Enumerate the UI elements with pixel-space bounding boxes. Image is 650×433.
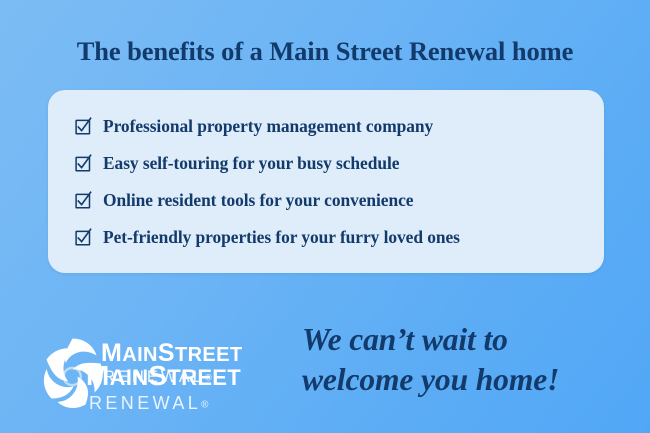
list-item-label: Easy self-touring for your busy schedule <box>103 153 399 174</box>
logo-wordmark: MAINSTREET RENEWAL® <box>86 362 241 412</box>
logo-wordmark-sub: RENEWAL® <box>89 394 241 412</box>
list-item: Pet-friendly properties for your furry l… <box>75 225 460 249</box>
logo-wordmark-main: MAINSTREET <box>86 360 241 391</box>
checkbox-checked-icon <box>75 154 92 172</box>
list-item: Professional property management company <box>75 114 433 138</box>
tagline-line-1: We can’t wait to <box>302 320 632 360</box>
benefits-card: Professional property management company… <box>48 90 604 273</box>
list-item: Online resident tools for your convenien… <box>75 188 413 212</box>
list-item-label: Online resident tools for your convenien… <box>103 190 413 211</box>
checkbox-checked-icon <box>75 228 92 246</box>
checkbox-checked-icon <box>75 191 92 209</box>
promo-poster: The benefits of a Main Street Renewal ho… <box>0 0 650 433</box>
checkbox-checked-icon <box>75 117 92 135</box>
page-title: The benefits of a Main Street Renewal ho… <box>0 36 650 67</box>
list-item: Easy self-touring for your busy schedule <box>75 151 399 175</box>
list-item-label: Pet-friendly properties for your furry l… <box>103 227 460 248</box>
brand-logo: MAINSTREET RENEWAL® MAINSTREET RENEWAL® <box>38 330 288 420</box>
list-item-label: Professional property management company <box>103 116 433 137</box>
tagline: We can’t wait to welcome you home! <box>302 320 632 401</box>
tagline-line-2: welcome you home! <box>302 360 632 400</box>
